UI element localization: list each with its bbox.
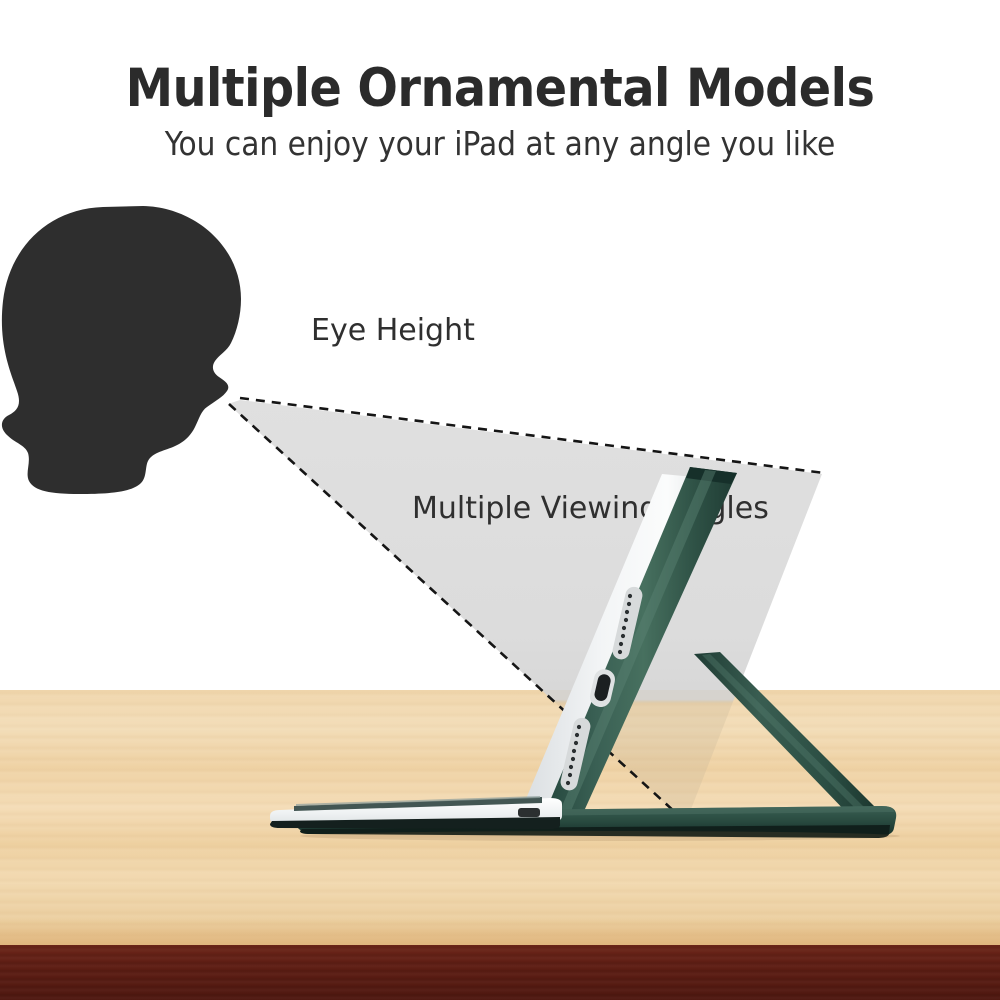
page-subtitle: You can enjoy your iPad at any angle you… [0,124,1000,163]
kickstand-leg-highlight [702,654,870,814]
viewer-head-silhouette [0,205,255,495]
stand-contact-shadow [300,831,900,841]
head-profile-shape [2,206,241,494]
detached-white-keyboard [270,796,562,829]
desk-front-edge [0,945,1000,1000]
keyboard-micro-usb-port [518,808,540,817]
eye-height-label: Eye Height [311,313,475,348]
ipad-with-green-stand-case [250,440,950,860]
product-feature-image: Eye Height Multiple Viewing Angles [0,0,1000,1000]
page-title: Multiple Ornamental Models [0,58,1000,119]
